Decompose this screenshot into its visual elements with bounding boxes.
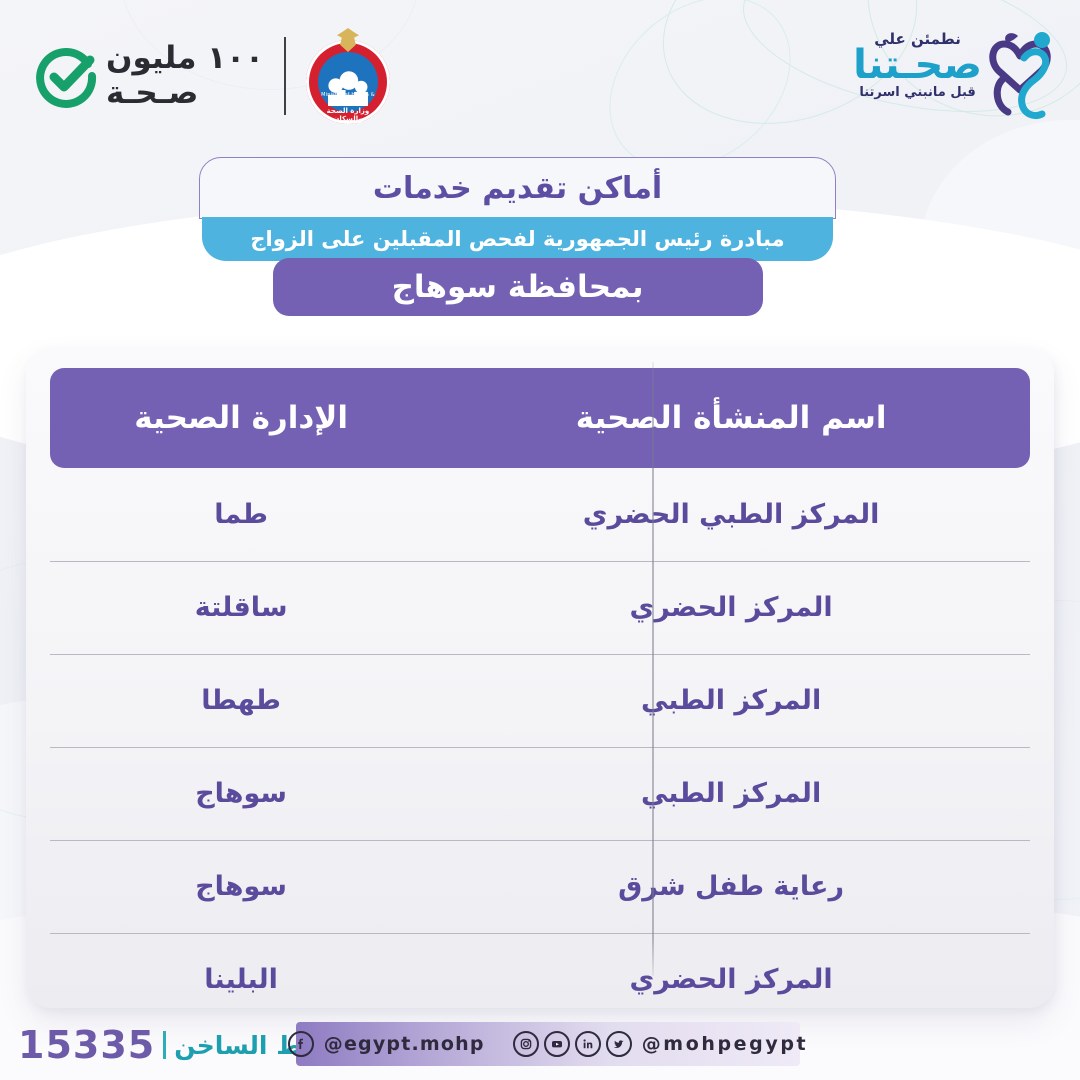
- facebook-icon[interactable]: [288, 1031, 314, 1057]
- column-header-admin: الإدارة الصحية: [50, 368, 432, 468]
- table-head: اسم المنشأة الصحية الإدارة الصحية: [50, 368, 1030, 468]
- logo-divider: [284, 37, 286, 115]
- page-footer: 15335 الخط الساخن @egypt.mohp: [0, 1008, 1080, 1080]
- cell-facility: المركز الطبي: [432, 747, 1030, 840]
- table-row: المركز الطبي سوهاج: [50, 747, 1030, 840]
- title-line-services: أماكن تقديم خدمات: [199, 157, 836, 219]
- mohp-seal-icon: Ministry of Health & Population وزارة ال…: [300, 26, 396, 126]
- facilities-table: اسم المنشأة الصحية الإدارة الصحية المركز…: [50, 368, 1030, 1008]
- hotline-number: 15335: [18, 1026, 155, 1064]
- social-icon-group: [513, 1031, 632, 1057]
- table-column-divider: [652, 362, 654, 976]
- table-row: المركز الحضري ساقلتة: [50, 561, 1030, 654]
- hotline-separator: [163, 1031, 166, 1059]
- initiative-line-middle: صحـتنا: [853, 46, 982, 84]
- title-banner: أماكن تقديم خدمات مبادرة رئيس الجمهورية …: [199, 157, 836, 316]
- title-line-governorate: بمحافظة سوهاج: [273, 258, 763, 316]
- cell-admin: البلينا: [50, 933, 432, 1008]
- seal-text-arabic: وزارة الصحة والسكان: [312, 107, 384, 123]
- linkedin-icon[interactable]: [575, 1031, 601, 1057]
- cell-admin: ساقلتة: [50, 561, 432, 654]
- twitter-icon[interactable]: [606, 1031, 632, 1057]
- other-social-handle: @mohpegypt: [642, 1033, 809, 1055]
- table-row: المركز الطبي طهطا: [50, 654, 1030, 747]
- cell-facility: المركز الحضري: [432, 561, 1030, 654]
- cell-admin: سوهاج: [50, 747, 432, 840]
- cell-facility: المركز الطبي الحضري: [432, 468, 1030, 561]
- cell-admin: سوهاج: [50, 840, 432, 933]
- page-header: Ministry of Health & Population وزارة ال…: [0, 0, 1080, 150]
- campaign-line-2: صـحـة: [106, 78, 198, 109]
- facilities-table-card: اسم المنشأة الصحية الإدارة الصحية المركز…: [26, 348, 1054, 1008]
- table-row: المركز الطبي الحضري طما: [50, 468, 1030, 561]
- table-body: المركز الطبي الحضري طما المركز الحضري سا…: [50, 468, 1030, 1008]
- instagram-icon[interactable]: [513, 1031, 539, 1057]
- green-check-circle-icon: [34, 44, 98, 108]
- campaign-logo-text: ١٠٠ مليون صـحـة: [106, 43, 264, 109]
- header-left-logos: Ministry of Health & Population وزارة ال…: [34, 26, 396, 126]
- table-row: المركز الحضري البلينا: [50, 933, 1030, 1008]
- cell-facility: رعاية طفل شرق: [432, 840, 1030, 933]
- youtube-icon[interactable]: [544, 1031, 570, 1057]
- initiative-line-bottom: قبل مانبني اسرتنا: [853, 85, 982, 100]
- campaign-line-1: ١٠٠ مليون: [106, 43, 264, 74]
- initiative-logo: نطمئن علي صحـتنا قبل مانبني اسرتنا: [766, 20, 1056, 140]
- cell-admin: طما: [50, 468, 432, 561]
- table-header-row: اسم المنشأة الصحية الإدارة الصحية: [50, 368, 1030, 468]
- seal-text-english: Ministry of Health & Population: [316, 92, 380, 104]
- title-line-initiative: مبادرة رئيس الجمهورية لفحص المقبلين على …: [202, 217, 833, 261]
- cell-admin: طهطا: [50, 654, 432, 747]
- cell-facility: المركز الطبي: [432, 654, 1030, 747]
- column-header-facility: اسم المنشأة الصحية: [432, 368, 1030, 468]
- heart-person-icon: [984, 28, 1056, 124]
- campaign-logo: ١٠٠ مليون صـحـة: [34, 43, 270, 109]
- initiative-logo-text: نطمئن علي صحـتنا قبل مانبني اسرتنا: [853, 30, 982, 100]
- cell-facility: المركز الحضري: [432, 933, 1030, 1008]
- facebook-handle: @egypt.mohp: [324, 1033, 485, 1055]
- social-bar: @egypt.mohp: [296, 1022, 800, 1066]
- table-row: رعاية طفل شرق سوهاج: [50, 840, 1030, 933]
